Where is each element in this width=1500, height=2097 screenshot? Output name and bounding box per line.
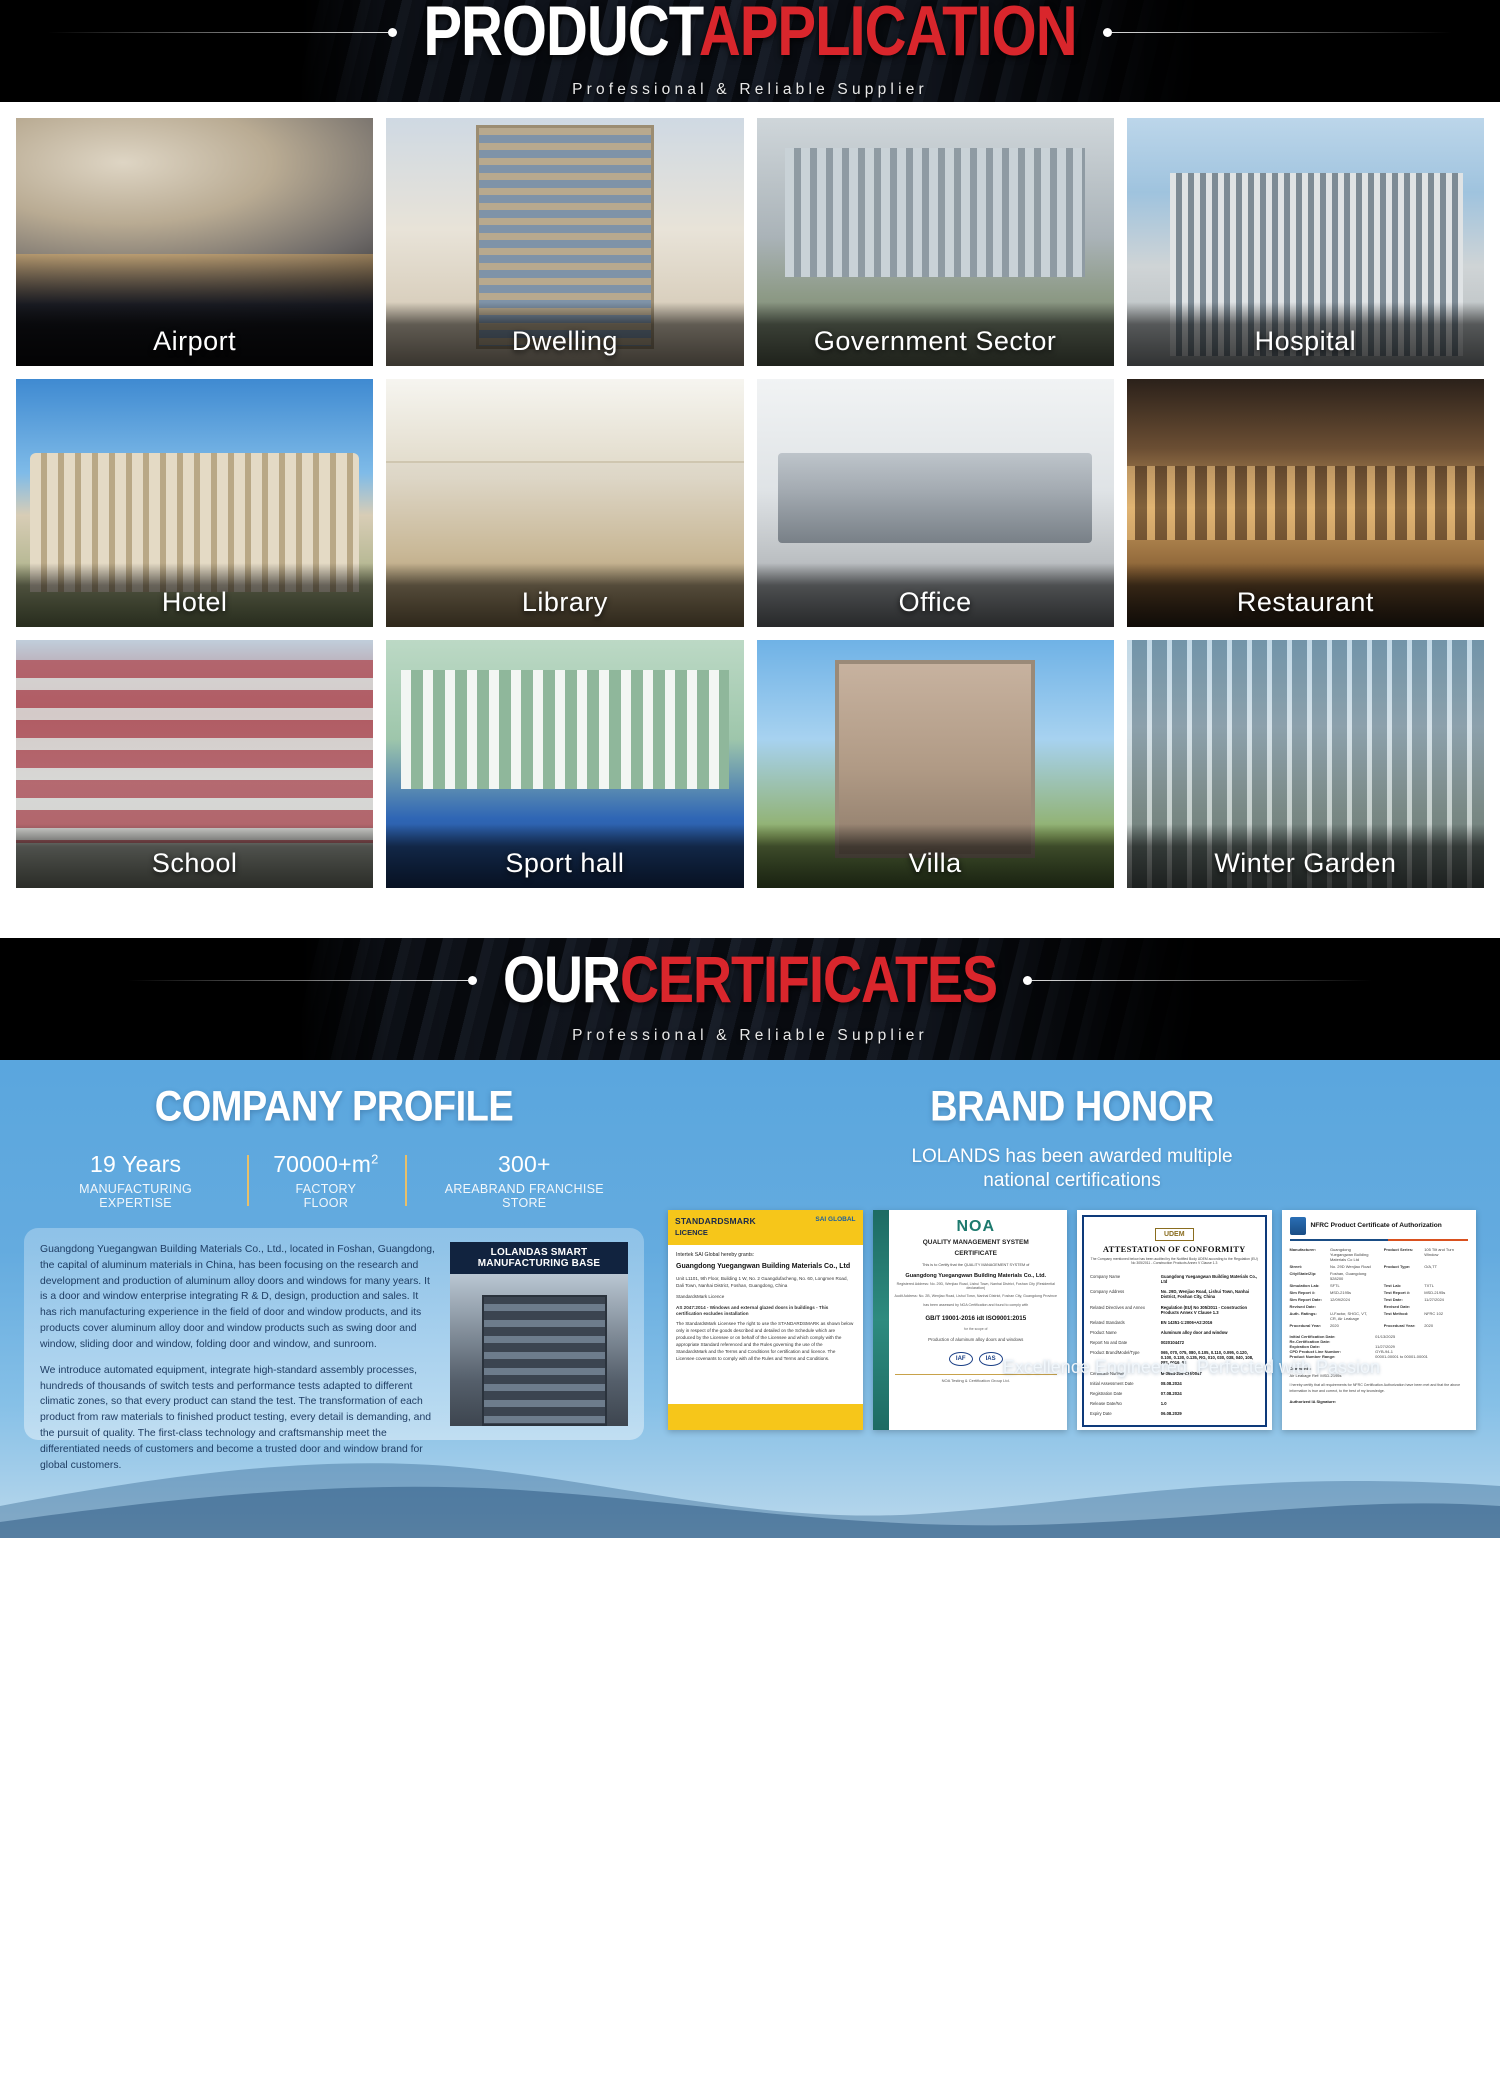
company-profile-title: COMPANY PROFILE bbox=[24, 1083, 644, 1131]
field-value: 08.08.2024 bbox=[1161, 1381, 1259, 1386]
field-value: 07.08.2024 bbox=[1161, 1391, 1259, 1396]
page-root: PRODUCTAPPLICATION Professional & Reliab… bbox=[0, 0, 1500, 2097]
noa-scope: Production of aluminum alloy doors and w… bbox=[895, 1337, 1058, 1342]
certificate-noa-iso9001[interactable]: NOA QUALITY MANAGEMENT SYSTEM CERTIFICAT… bbox=[873, 1210, 1068, 1430]
field-key bbox=[1384, 1271, 1424, 1281]
divider-line-left bbox=[48, 32, 388, 33]
field-value: No. 29D Wenjiao Road bbox=[1330, 1264, 1374, 1269]
sai-global-logo: SAI GLOBAL bbox=[815, 1216, 855, 1223]
field-key: Auth. Ratings: bbox=[1290, 1311, 1330, 1321]
banner-subtitle: Professional & Reliable Supplier bbox=[572, 1027, 928, 1045]
factory-photo bbox=[450, 1274, 628, 1426]
nfrc-field-row: Street:No. 29D Wenjiao Road bbox=[1290, 1264, 1374, 1269]
divider-line-left bbox=[128, 980, 468, 981]
standardsmark-body: Intertek SAI Global hereby grants: Guang… bbox=[668, 1245, 863, 1404]
field-value: O/A,TT bbox=[1424, 1264, 1468, 1269]
banner-title-row: PRODUCTAPPLICATION bbox=[0, 3, 1500, 61]
company-description: Guangdong Yuegangwan Building Materials … bbox=[40, 1242, 436, 1426]
noa-scope-label: for the scope of bbox=[895, 1327, 1058, 1331]
factory-image-label: LOLANDAS SMART MANUFACTURING BASE bbox=[450, 1242, 628, 1274]
field-key: Test Method: bbox=[1384, 1311, 1424, 1321]
standardsmark-subtitle: LICENCE bbox=[675, 1228, 756, 1237]
udem-field-row: Company NameGuangdong Yuegangwan Buildin… bbox=[1090, 1272, 1259, 1287]
udem-title: ATTESTATION OF CONFORMITY bbox=[1090, 1244, 1259, 1254]
stat-franchise-stores: 300+ AREABRAND FRANCHISE STORE bbox=[405, 1151, 644, 1210]
banner-title-row: OURCERTIFICATES bbox=[0, 953, 1500, 1007]
standardsmark-header: STANDARDSMARK LICENCE SAI GLOBAL bbox=[668, 1210, 863, 1245]
stat-value: 300+ bbox=[431, 1151, 618, 1178]
udem-field-row: Release Date/No1.0 bbox=[1090, 1399, 1259, 1409]
nfrc-field-row: Simulation Lab:SFTL bbox=[1290, 1283, 1374, 1288]
nfrc-field-row bbox=[1384, 1271, 1468, 1281]
stat-label: MANUFACTURING EXPERTISE bbox=[50, 1182, 221, 1210]
title-red-part: APPLICATION bbox=[699, 0, 1077, 71]
brand-honor-subtitle-line-1: LOLANDS has been awarded multiple bbox=[668, 1145, 1476, 1169]
standardsmark-company: Guangdong Yuegangwan Building Materials … bbox=[676, 1262, 855, 1273]
company-paragraph-2: We introduce automated equipment, integr… bbox=[40, 1363, 436, 1474]
field-value: 12/09/2024 bbox=[1330, 1297, 1374, 1302]
nfrc-field-grid: Manufacturer:Guangdong Yuegangwan Buildi… bbox=[1290, 1247, 1469, 1328]
application-tile-airport[interactable]: Airport bbox=[16, 118, 373, 366]
field-value: U-Factor, SHGC, VT, CR, Air Leakage bbox=[1330, 1311, 1374, 1321]
field-key: Test Lab: bbox=[1384, 1283, 1424, 1288]
udem-field-row: Related Directives and AnnexRegulation (… bbox=[1090, 1302, 1259, 1317]
application-label: School bbox=[16, 848, 373, 879]
application-label: Restaurant bbox=[1127, 587, 1484, 618]
field-key: Sim Report #: bbox=[1290, 1290, 1330, 1295]
field-key: Product Type: bbox=[1384, 1264, 1424, 1269]
field-value: Guangdong Yuegangwan Building Materials … bbox=[1161, 1274, 1259, 1284]
noa-registered-address: Registered Address: No. 29D, Wenjiao Roa… bbox=[895, 1282, 1058, 1290]
noa-logo: NOA bbox=[895, 1218, 1058, 1236]
ias-badge-icon: IAS bbox=[979, 1352, 1003, 1366]
udem-field-row: Related StandardsEN 14351-1:2006+A2:2016 bbox=[1090, 1317, 1259, 1327]
field-value: SFTL bbox=[1330, 1283, 1374, 1288]
section-spacer bbox=[0, 908, 1500, 938]
field-key: Street: bbox=[1290, 1264, 1330, 1269]
stat-value-superscript: 2 bbox=[371, 1151, 378, 1166]
divider-dot-left bbox=[388, 28, 397, 37]
field-key: City/State/Zip: bbox=[1290, 1271, 1330, 1281]
nfrc-header: NFRC Product Certificate of Authorizatio… bbox=[1282, 1210, 1477, 1239]
field-value: Regulation (EU) No 305/2011 - Constructi… bbox=[1161, 1305, 1259, 1315]
noa-audit-address: Audit Address: No. 2B, Wenjiao Road, Lis… bbox=[895, 1294, 1058, 1298]
nfrc-field-row: Procedural Year:2020 bbox=[1384, 1323, 1468, 1328]
field-key: Product Name bbox=[1090, 1330, 1161, 1335]
application-label: Office bbox=[757, 587, 1114, 618]
noa-body: NOA QUALITY MANAGEMENT SYSTEM CERTIFICAT… bbox=[873, 1210, 1068, 1430]
standardsmark-grant-line: Intertek SAI Global hereby grants: bbox=[676, 1252, 855, 1260]
field-value: 2020 bbox=[1330, 1323, 1374, 1328]
udem-field-row: Product NameAluminum alloy door and wind… bbox=[1090, 1327, 1259, 1337]
nfrc-field-row: Test Method:NFRC 102 bbox=[1384, 1311, 1468, 1321]
field-key: Revised Date: bbox=[1290, 1304, 1330, 1309]
field-value: NFRC 102 bbox=[1424, 1311, 1468, 1321]
application-tile-winter-garden[interactable]: Winter Garden bbox=[1127, 640, 1484, 888]
application-tile-library[interactable]: Library bbox=[386, 379, 743, 627]
noa-company: Guangdong Yuegangwan Building Materials … bbox=[895, 1273, 1058, 1279]
application-label: Hotel bbox=[16, 587, 373, 618]
nfrc-field-row: Product Series:105 Tilt and Turn Window bbox=[1384, 1247, 1468, 1262]
divider-dot-right bbox=[1103, 28, 1112, 37]
udem-field-row: Registration Date07.08.2024 bbox=[1090, 1388, 1259, 1398]
field-value bbox=[1330, 1304, 1374, 1309]
nfrc-field-row: Test Lab:TXTL bbox=[1384, 1283, 1468, 1288]
company-paragraph-1: Guangdong Yuegangwan Building Materials … bbox=[40, 1242, 436, 1353]
stat-value: 70000+m2 bbox=[273, 1151, 378, 1178]
udem-frame: UDEM ATTESTATION OF CONFORMITY The Compa… bbox=[1082, 1215, 1267, 1427]
standardsmark-address: Unit L1101, 9th Floor, Building 1 W, No.… bbox=[676, 1276, 855, 1290]
nfrc-body: Manufacturer:Guangdong Yuegangwan Buildi… bbox=[1282, 1241, 1477, 1430]
standardsmark-footer bbox=[668, 1404, 863, 1430]
stat-factory-floor: 70000+m2 FACTORY FLOOR bbox=[247, 1151, 404, 1210]
udem-seal-icon: UDEM bbox=[1155, 1228, 1194, 1241]
field-value: No. 29D, Wenjiao Road, Lishui Town, Nanh… bbox=[1161, 1289, 1259, 1299]
field-value: 105 Tilt and Turn Window bbox=[1424, 1247, 1468, 1262]
field-key: Manufacturer: bbox=[1290, 1247, 1330, 1262]
nfrc-field-row: Procedural Year:2020 bbox=[1290, 1323, 1374, 1328]
nfrc-field-row: Revised Date: bbox=[1384, 1304, 1468, 1309]
field-key: Product Series: bbox=[1384, 1247, 1424, 1262]
company-profile-card: Guangdong Yuegangwan Building Materials … bbox=[24, 1228, 644, 1440]
field-key: Release Date/No bbox=[1090, 1401, 1161, 1406]
udem-intro: The Company mentioned below has been aud… bbox=[1090, 1257, 1259, 1265]
divider-line-right bbox=[1112, 32, 1452, 33]
application-tile-dwelling[interactable]: Dwelling bbox=[386, 118, 743, 366]
section-title: OURCERTIFICATES bbox=[477, 947, 1023, 1013]
brand-honor-column: BRAND HONOR LOLANDS has been awarded mul… bbox=[644, 1086, 1476, 1440]
brand-honor-title: BRAND HONOR bbox=[668, 1083, 1476, 1131]
title-white-part: PRODUCT bbox=[423, 0, 698, 71]
application-label: Villa bbox=[757, 848, 1114, 879]
field-value: MSD-2195s bbox=[1424, 1290, 1468, 1295]
stat-value-text: 70000+m bbox=[273, 1151, 371, 1177]
application-tile-hotel[interactable]: Hotel bbox=[16, 379, 373, 627]
nfrc-field-row: Auth. Ratings:U-Factor, SHGC, VT, CR, Ai… bbox=[1290, 1311, 1374, 1321]
field-value: 11/27/2024 bbox=[1424, 1297, 1468, 1302]
field-value: EN 14351-1:2006+A2:2016 bbox=[1161, 1320, 1259, 1325]
noa-title-line-1: QUALITY MANAGEMENT SYSTEM bbox=[895, 1239, 1058, 1247]
noa-standard: GB/T 19001-2016 idt ISO9001:2015 bbox=[895, 1315, 1058, 1322]
title-white-part: OUR bbox=[503, 943, 620, 1016]
stat-label: AREABRAND FRANCHISE STORE bbox=[431, 1182, 618, 1210]
standardsmark-standard: AS 2047:2014 - Windows and external glaz… bbox=[676, 1305, 855, 1319]
banner-our-certificates: OURCERTIFICATES Professional & Reliable … bbox=[0, 938, 1500, 1060]
field-key: Related Directives and Annex bbox=[1090, 1305, 1161, 1315]
company-stats: 19 Years MANUFACTURING EXPERTISE 70000+m… bbox=[24, 1151, 644, 1210]
field-value: Aluminum alloy door and window bbox=[1161, 1330, 1259, 1335]
field-value bbox=[1424, 1271, 1468, 1281]
brand-honor-subtitle: LOLANDS has been awarded multiple nation… bbox=[668, 1145, 1476, 1194]
divider-dot-right bbox=[1023, 976, 1032, 985]
standardsmark-licence-type: StandardsMark Licence bbox=[676, 1294, 855, 1301]
company-profile-column: COMPANY PROFILE 19 Years MANUFACTURING E… bbox=[24, 1086, 644, 1440]
banner-product-application: PRODUCTAPPLICATION Professional & Reliab… bbox=[0, 0, 1500, 102]
application-label: Airport bbox=[16, 326, 373, 357]
udem-field-row: Expiry Date06.08.2029 bbox=[1090, 1409, 1259, 1419]
standardsmark-title: STANDARDSMARK bbox=[675, 1216, 756, 1226]
nfrc-field-row: Sim Report #:MSD-2195s bbox=[1290, 1290, 1374, 1295]
application-label: Dwelling bbox=[386, 326, 743, 357]
divider-line-right bbox=[1032, 980, 1372, 981]
nfrc-field-row: Revised Date: bbox=[1290, 1304, 1374, 1309]
nfrc-signature-label: Authorized IA Signature: bbox=[1290, 1399, 1469, 1404]
field-key: Procedural Year: bbox=[1384, 1323, 1424, 1328]
application-grid-section: Airport Dwelling Government Sector Hospi… bbox=[0, 102, 1500, 908]
field-value: TXTL bbox=[1424, 1283, 1468, 1288]
certificate-nfrc-authorization[interactable]: NFRC Product Certificate of Authorizatio… bbox=[1282, 1210, 1477, 1430]
nfrc-field-row: City/State/Zip:Foshan, Guangdong 528200 bbox=[1290, 1271, 1374, 1281]
nfrc-field-row: Test Date:11/27/2024 bbox=[1384, 1297, 1468, 1302]
field-value: 00001-00001 to 00001-00001 bbox=[1375, 1354, 1468, 1359]
field-key: Report No and Date bbox=[1090, 1340, 1161, 1345]
field-key: Procedural Year: bbox=[1290, 1323, 1330, 1328]
field-value: Guangdong Yuegangwan Building Materials … bbox=[1330, 1247, 1374, 1262]
stat-label: FACTORY FLOOR bbox=[273, 1182, 378, 1210]
application-label: Library bbox=[386, 587, 743, 618]
nfrc-field-row: Product Type:O/A,TT bbox=[1384, 1264, 1468, 1269]
title-red-part: CERTIFICATES bbox=[620, 943, 997, 1016]
application-label: Sport hall bbox=[386, 848, 743, 879]
field-value: 2020 bbox=[1424, 1323, 1468, 1328]
field-key: Simulation Lab: bbox=[1290, 1283, 1330, 1288]
field-value: Foshan, Guangdong 528200 bbox=[1330, 1271, 1374, 1281]
field-key: Related Standards bbox=[1090, 1320, 1161, 1325]
field-key: Revised Date: bbox=[1384, 1304, 1424, 1309]
application-label: Government Sector bbox=[757, 326, 1114, 357]
noa-assessed-line: has been assessed by NOA Certification a… bbox=[895, 1303, 1058, 1307]
iaf-badge-icon: IAF bbox=[949, 1352, 973, 1366]
factory-image-block: LOLANDAS SMART MANUFACTURING BASE bbox=[450, 1242, 628, 1426]
udem-field-row: Initial Assessment Date08.08.2024 bbox=[1090, 1378, 1259, 1388]
nfrc-field-row: Sim Report Date:12/09/2024 bbox=[1290, 1297, 1374, 1302]
noa-side-border bbox=[873, 1210, 889, 1430]
application-label: Hospital bbox=[1127, 326, 1484, 357]
application-tile-government-sector[interactable]: Government Sector bbox=[757, 118, 1114, 366]
application-grid: Airport Dwelling Government Sector Hospi… bbox=[16, 118, 1484, 888]
field-key: Sim Report Date: bbox=[1290, 1297, 1330, 1302]
page-title: PRODUCTAPPLICATION bbox=[397, 0, 1102, 67]
field-value: 1.0 bbox=[1161, 1401, 1259, 1406]
field-key: Expiry Date bbox=[1090, 1411, 1161, 1416]
company-and-honor-section: COMPANY PROFILE 19 Years MANUFACTURING E… bbox=[0, 1060, 1500, 1538]
field-key: Company Address bbox=[1090, 1289, 1161, 1299]
udem-field-row: Company AddressNo. 29D, Wenjiao Road, Li… bbox=[1090, 1287, 1259, 1302]
application-label: Winter Garden bbox=[1127, 848, 1484, 879]
field-value: 06.08.2029 bbox=[1161, 1411, 1259, 1416]
udem-field-row: Report No and Date0020104472 bbox=[1090, 1338, 1259, 1348]
field-value: MSD-2195s bbox=[1330, 1290, 1374, 1295]
nfrc-title: NFRC Product Certificate of Authorizatio… bbox=[1311, 1222, 1442, 1229]
field-key: Registration Date bbox=[1090, 1391, 1161, 1396]
certificate-standardsmark[interactable]: STANDARDSMARK LICENCE SAI GLOBAL Interte… bbox=[668, 1210, 863, 1430]
certificate-gallery: STANDARDSMARK LICENCE SAI GLOBAL Interte… bbox=[668, 1210, 1476, 1430]
field-key: Test Date: bbox=[1384, 1297, 1424, 1302]
brand-honor-subtitle-line-2: national certifications bbox=[668, 1169, 1476, 1193]
field-key: Test Report #: bbox=[1384, 1290, 1424, 1295]
field-key: Company Name bbox=[1090, 1274, 1161, 1284]
brand-honor-tagline: Excellence Engineered, Perfected with Pa… bbox=[1003, 1357, 1380, 1378]
application-tile-hospital[interactable]: Hospital bbox=[1127, 118, 1484, 366]
field-value: 0020104472 bbox=[1161, 1340, 1259, 1345]
noa-certify-line: This is to Certify that the QUALITY MANA… bbox=[895, 1263, 1058, 1267]
stat-years: 19 Years MANUFACTURING EXPERTISE bbox=[24, 1151, 247, 1210]
field-value bbox=[1424, 1304, 1468, 1309]
certificate-udem-attestation[interactable]: UDEM ATTESTATION OF CONFORMITY The Compa… bbox=[1077, 1210, 1272, 1430]
banner-subtitle: Professional & Reliable Supplier bbox=[572, 81, 928, 99]
noa-title-line-2: CERTIFICATE bbox=[895, 1250, 1058, 1258]
field-key: Initial Assessment Date bbox=[1090, 1381, 1161, 1386]
application-tile-school[interactable]: School bbox=[16, 640, 373, 888]
nfrc-logo-icon bbox=[1290, 1217, 1306, 1235]
standardsmark-body-text: The StandardsMark Licensee The right to … bbox=[676, 1321, 855, 1362]
udem-fields: Company NameGuangdong Yuegangwan Buildin… bbox=[1090, 1272, 1259, 1419]
application-tile-office[interactable]: Office bbox=[757, 379, 1114, 627]
application-tile-sport-hall[interactable]: Sport hall bbox=[386, 640, 743, 888]
nfrc-certify-text: I hereby certify that all requirements f… bbox=[1290, 1383, 1469, 1394]
stat-value: 19 Years bbox=[50, 1151, 221, 1178]
divider-dot-left bbox=[468, 976, 477, 985]
nfrc-field-row: Test Report #:MSD-2195s bbox=[1384, 1290, 1468, 1295]
nfrc-field-row: Manufacturer:Guangdong Yuegangwan Buildi… bbox=[1290, 1247, 1374, 1262]
application-tile-restaurant[interactable]: Restaurant bbox=[1127, 379, 1484, 627]
application-tile-villa[interactable]: Villa bbox=[757, 640, 1114, 888]
